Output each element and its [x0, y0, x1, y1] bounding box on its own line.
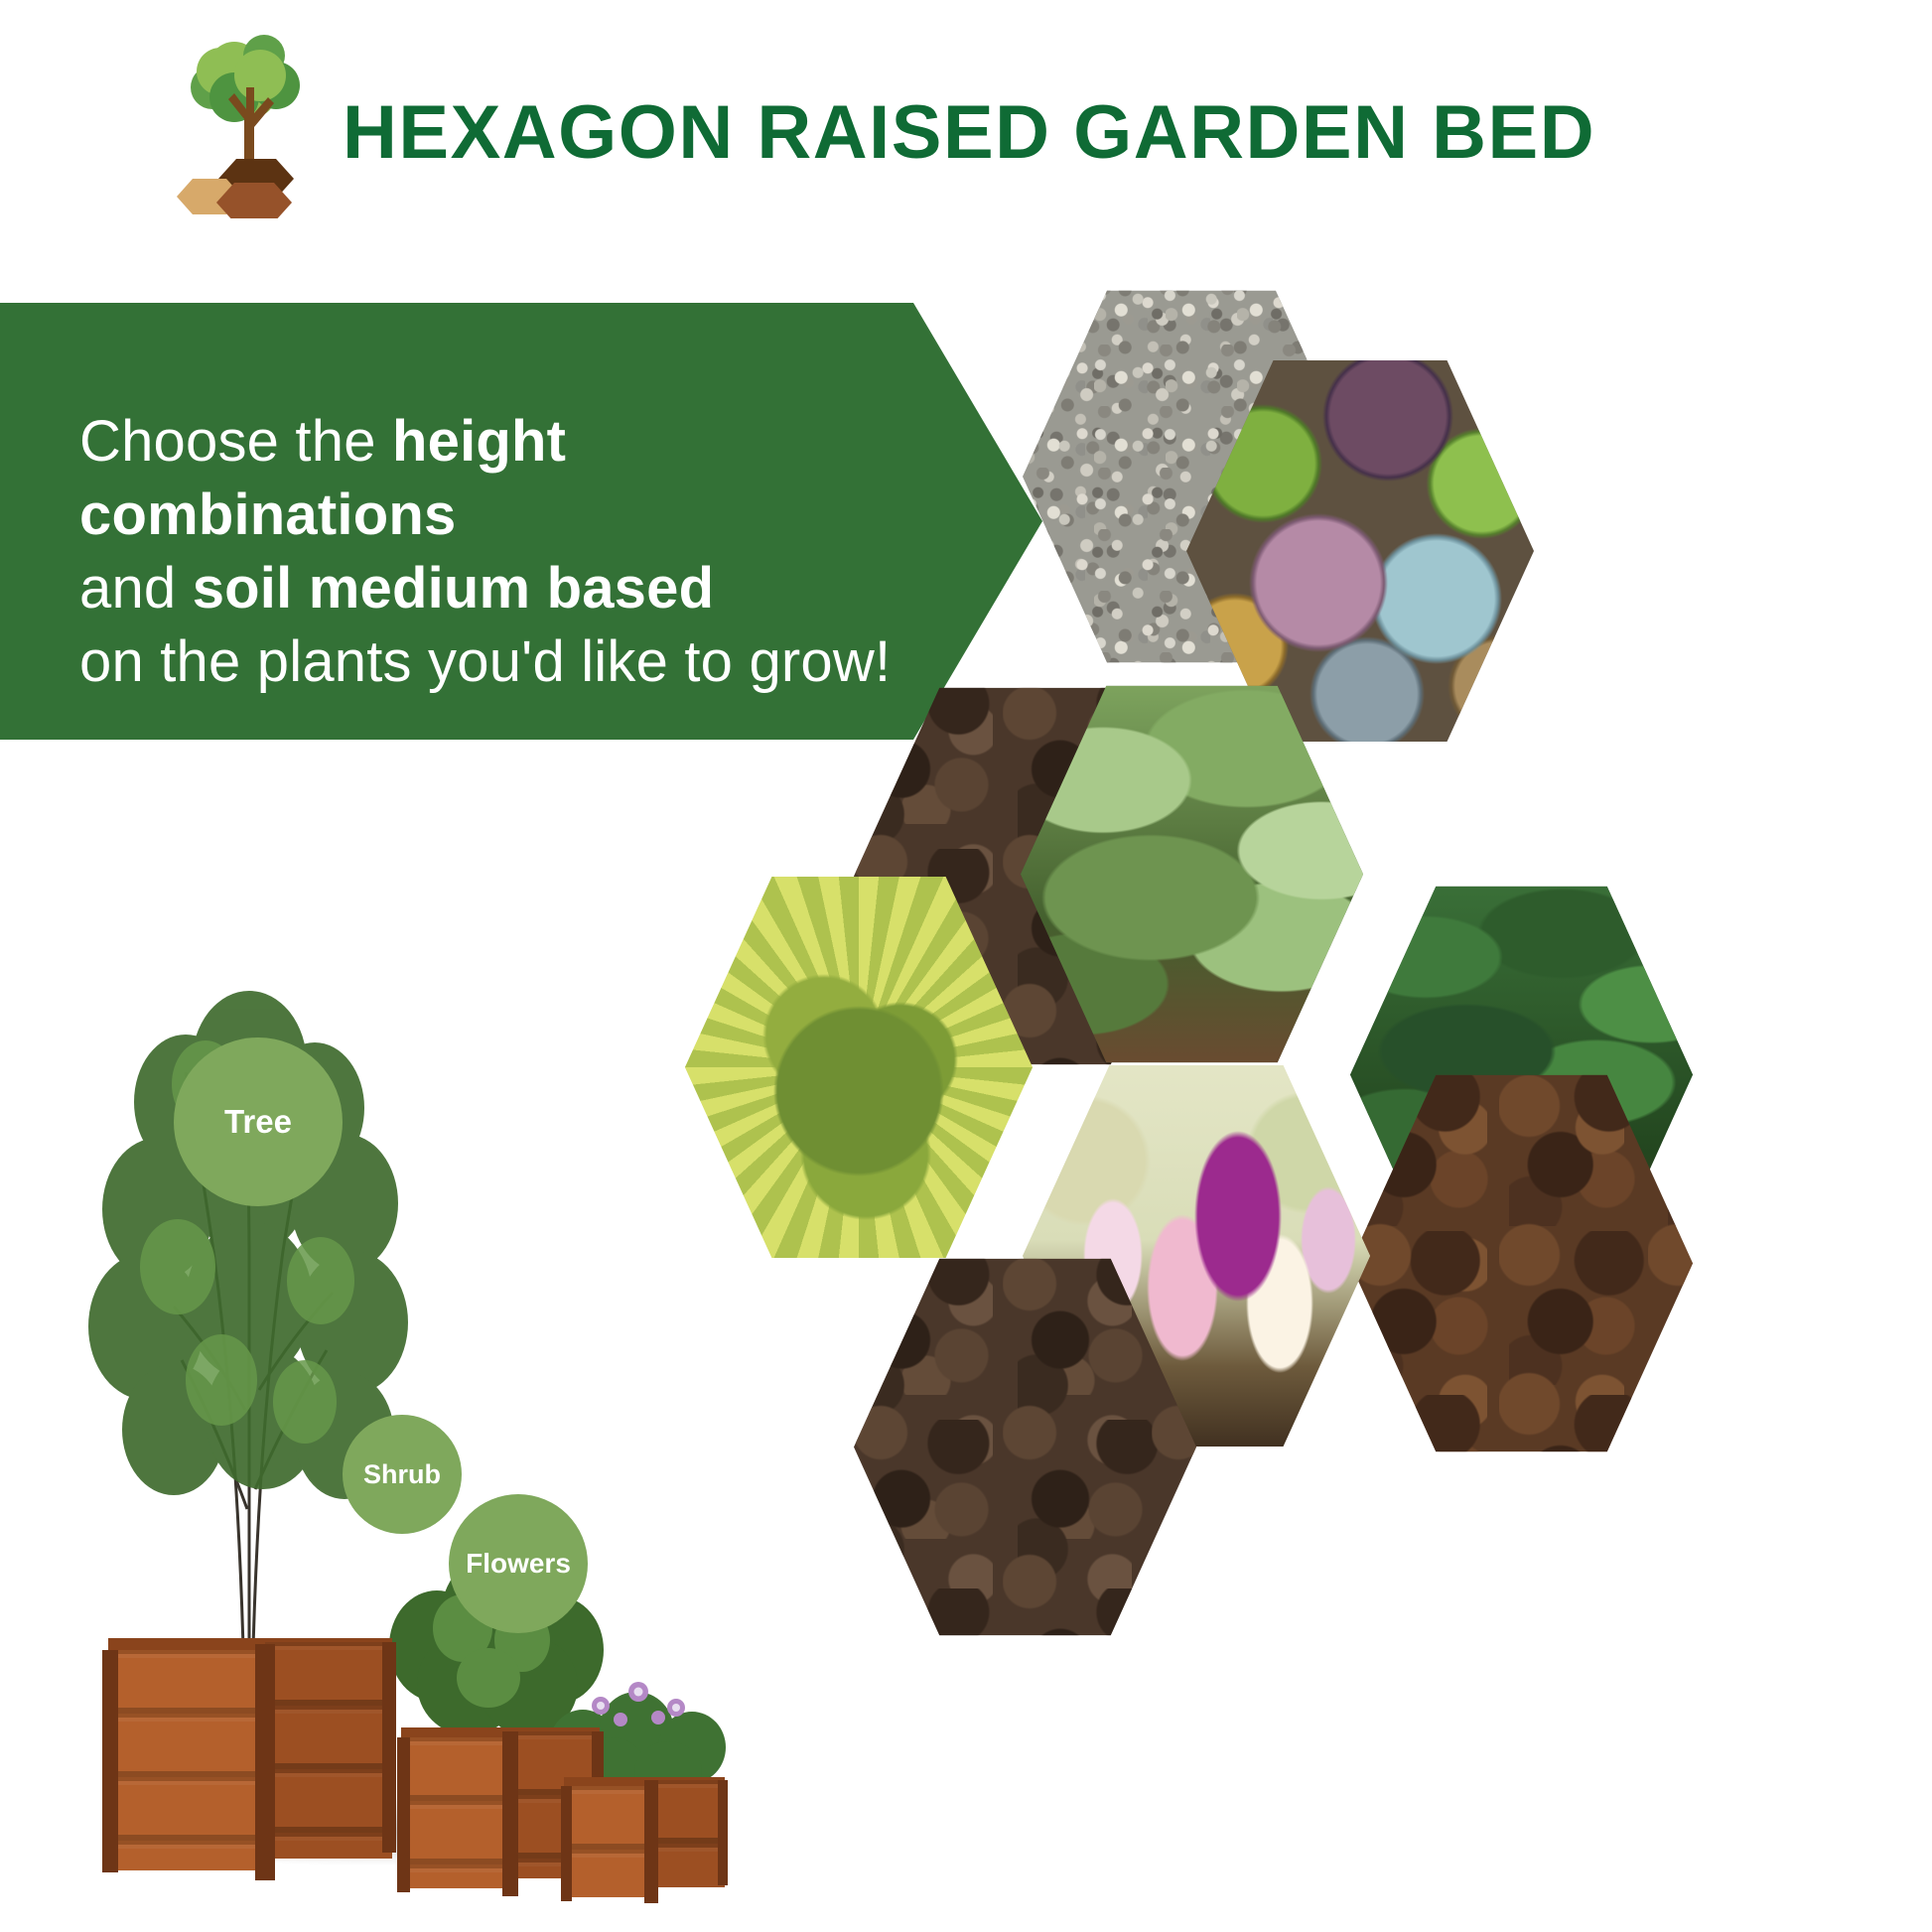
planter-corner-post [397, 1737, 410, 1892]
planter-front [564, 1786, 651, 1897]
tree-hexagon-logo [177, 28, 326, 218]
plant-label-shrub[interactable]: Shrub [343, 1415, 462, 1534]
banner-line1-prefix: Choose the [79, 409, 392, 474]
plant-label-flowers[interactable]: Flowers [449, 1494, 588, 1633]
planter-front [401, 1737, 510, 1888]
planter-corner-post [644, 1780, 658, 1903]
hexagon-photo-cluster [556, 273, 1932, 1574]
planter-corner-post [102, 1650, 118, 1872]
tall-planter-tree [102, 1638, 400, 1906]
planter-side [265, 1642, 392, 1859]
planter-corner-post [255, 1644, 275, 1880]
infographic-canvas: HEXAGON RAISED GARDEN BED Choose the hei… [0, 0, 1932, 1932]
planter-corner-post [502, 1731, 518, 1896]
planter-front [108, 1650, 265, 1870]
planter-corner-post [718, 1780, 728, 1885]
planter-corner-post [561, 1786, 572, 1901]
planter-corner-post [382, 1642, 396, 1853]
header: HEXAGON RAISED GARDEN BED [0, 0, 1932, 278]
banner-line2-prefix: and [79, 556, 193, 621]
page-title: HEXAGON RAISED GARDEN BED [343, 95, 1595, 171]
planter-side [651, 1780, 725, 1887]
short-planter-flowers [561, 1777, 730, 1926]
plant-label-tree[interactable]: Tree [174, 1037, 343, 1206]
